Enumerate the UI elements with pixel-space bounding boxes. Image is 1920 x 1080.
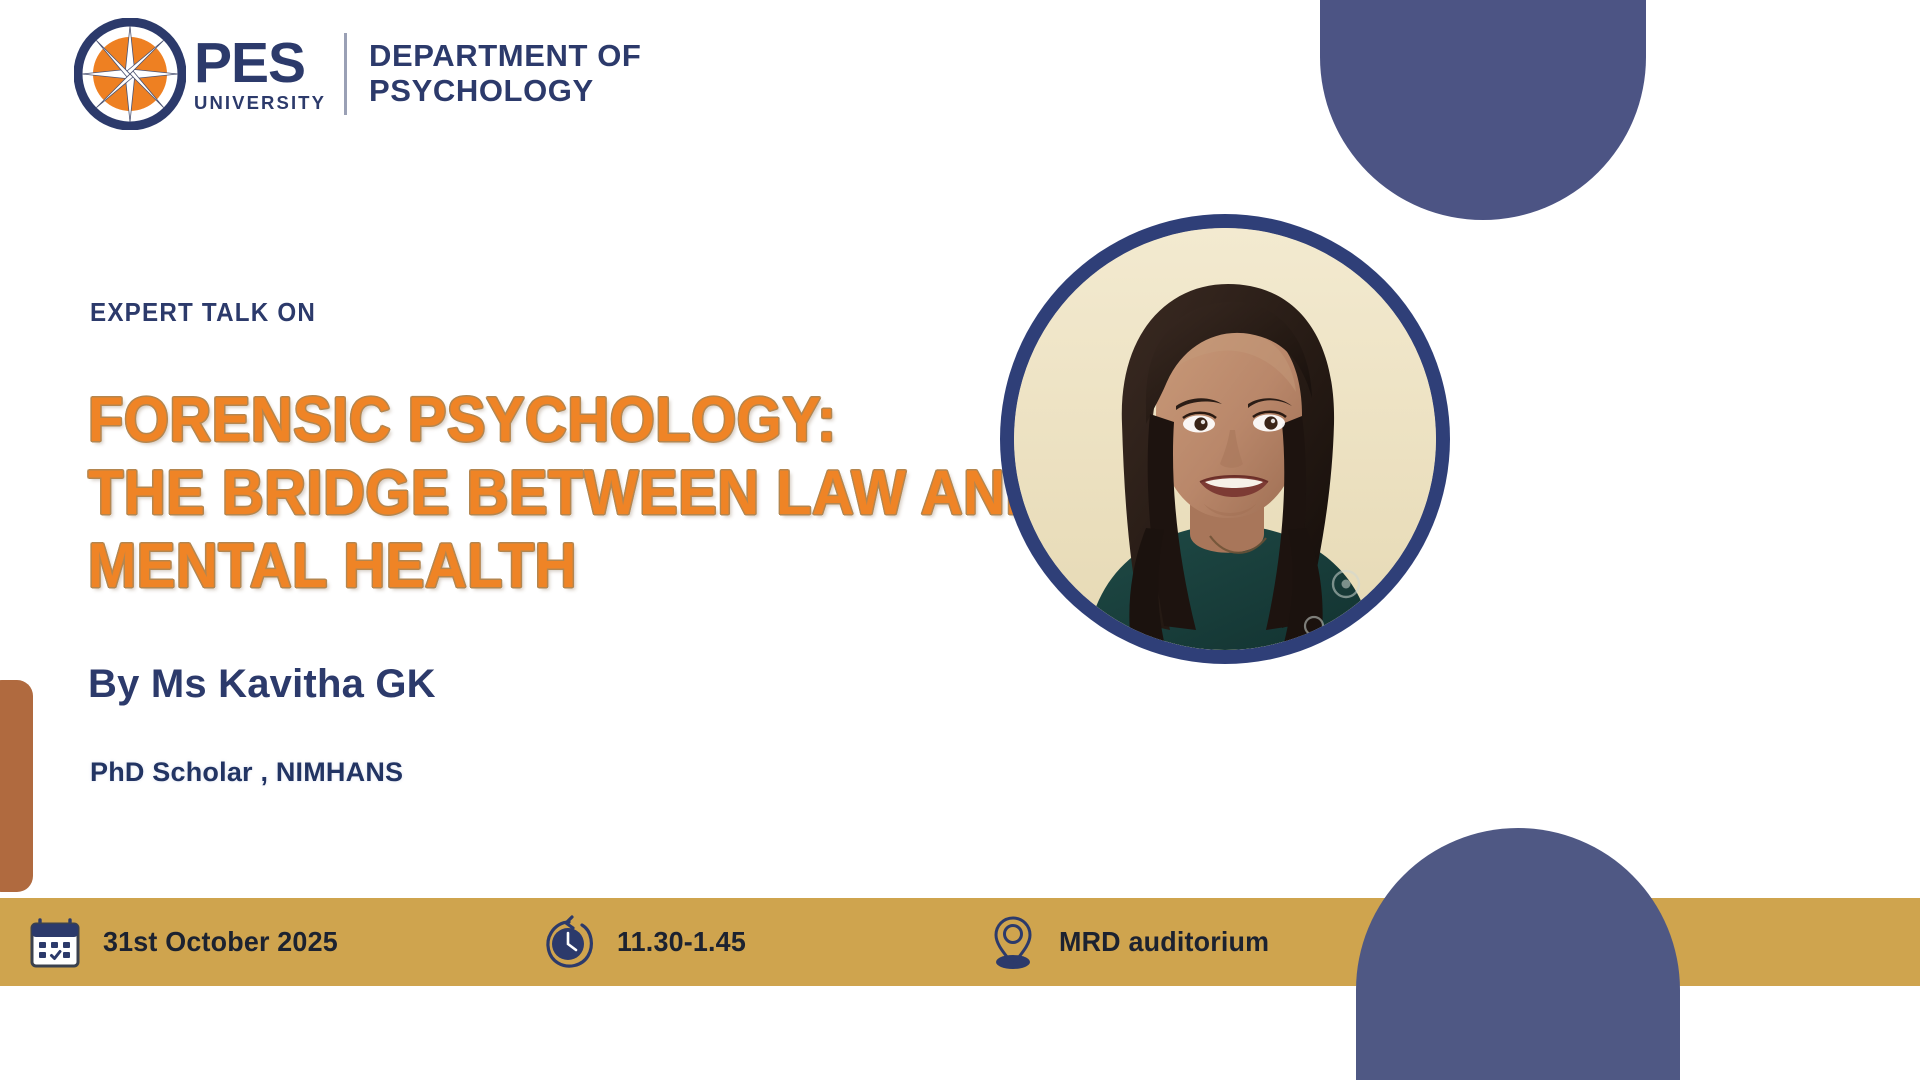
decor-bottom-right-arch	[1356, 828, 1680, 1080]
event-eyebrow: EXPERT TALK ON	[90, 297, 316, 328]
department-line-1: DEPARTMENT OF	[369, 39, 641, 74]
decor-top-right-arch	[1320, 0, 1646, 220]
info-item-date: 31st October 2025	[28, 914, 348, 970]
header-divider	[344, 33, 347, 115]
brand-name-primary: PES	[194, 35, 305, 92]
speaker-name: By Ms Kavitha GK	[88, 662, 436, 707]
department-line-2: PSYCHOLOGY	[369, 74, 641, 109]
event-title-line-3: MENTAL HEALTH	[88, 530, 1008, 603]
speaker-portrait	[1014, 228, 1436, 650]
event-title-line-2: THE BRIDGE BETWEEN LAW AND	[88, 457, 1008, 530]
brand-name-secondary: UNIVERSITY	[194, 94, 326, 113]
pes-wordmark: PES UNIVERSITY	[194, 35, 326, 113]
info-venue-value: MRD auditorium	[1059, 926, 1269, 958]
speaker-affiliation: PhD Scholar , NIMHANS	[90, 757, 403, 788]
location-pin-icon	[988, 913, 1038, 971]
speaker-photo-frame	[1000, 214, 1450, 664]
info-item-time: 11.30-1.45	[542, 913, 751, 971]
pes-compass-logo-icon	[74, 18, 186, 130]
info-date-value: 31st October 2025	[103, 926, 338, 958]
event-title: FORENSIC PSYCHOLOGY: THE BRIDGE BETWEEN …	[88, 384, 1088, 603]
clock-icon	[542, 913, 596, 971]
event-title-line-1: FORENSIC PSYCHOLOGY:	[88, 384, 1008, 457]
info-item-venue: MRD auditorium	[988, 913, 1278, 971]
calendar-icon	[28, 914, 82, 970]
department-title: DEPARTMENT OF PSYCHOLOGY	[369, 39, 641, 108]
poster-canvas: PES UNIVERSITY DEPARTMENT OF PSYCHOLOGY …	[0, 0, 1920, 1080]
info-time-value: 11.30-1.45	[617, 926, 746, 958]
brand-header: PES UNIVERSITY DEPARTMENT OF PSYCHOLOGY	[74, 18, 641, 130]
decor-left-rust-tab	[0, 680, 33, 892]
